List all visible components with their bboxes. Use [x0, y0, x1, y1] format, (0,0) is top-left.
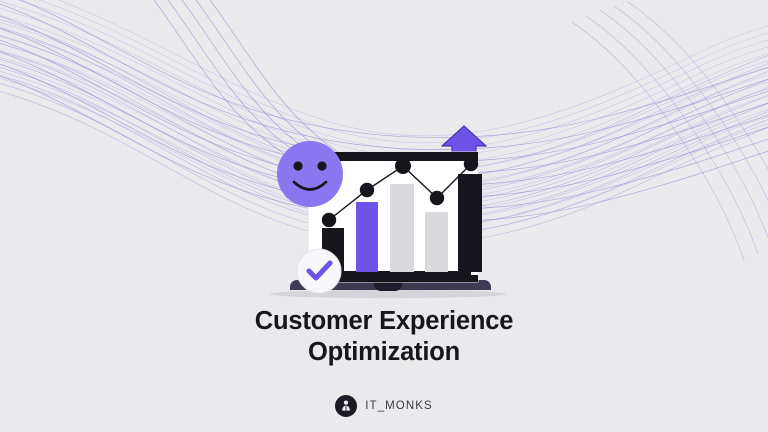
brand-logo: IT_MONKS: [0, 395, 768, 417]
page-title-line-1: Customer Experience: [0, 306, 768, 337]
smiley-eye-right: [317, 161, 326, 170]
chart-data-point: [360, 183, 374, 197]
it-monks-monk-icon: [335, 395, 357, 417]
chart-data-point: [395, 158, 411, 174]
chart-data-point: [322, 213, 336, 227]
chart-data-point: [430, 191, 444, 205]
brand-name: IT_MONKS: [365, 400, 433, 412]
page-title-line-2: Optimization: [0, 337, 768, 368]
page-title: Customer Experience Optimization: [0, 306, 768, 368]
chart-bar: [356, 202, 378, 272]
chart-bar: [458, 174, 482, 272]
check-badge-icon: [297, 249, 341, 293]
smiley-face-icon: [277, 141, 343, 207]
ground-shadow: [270, 290, 506, 298]
chart-data-point: [464, 157, 478, 171]
slide-canvas: Customer Experience Optimization IT_MONK…: [0, 0, 768, 432]
chart-bar: [390, 184, 414, 272]
smiley-eye-left: [293, 161, 302, 170]
chart-bar: [425, 212, 448, 272]
customer-experience-chart-illustration: [262, 112, 512, 312]
